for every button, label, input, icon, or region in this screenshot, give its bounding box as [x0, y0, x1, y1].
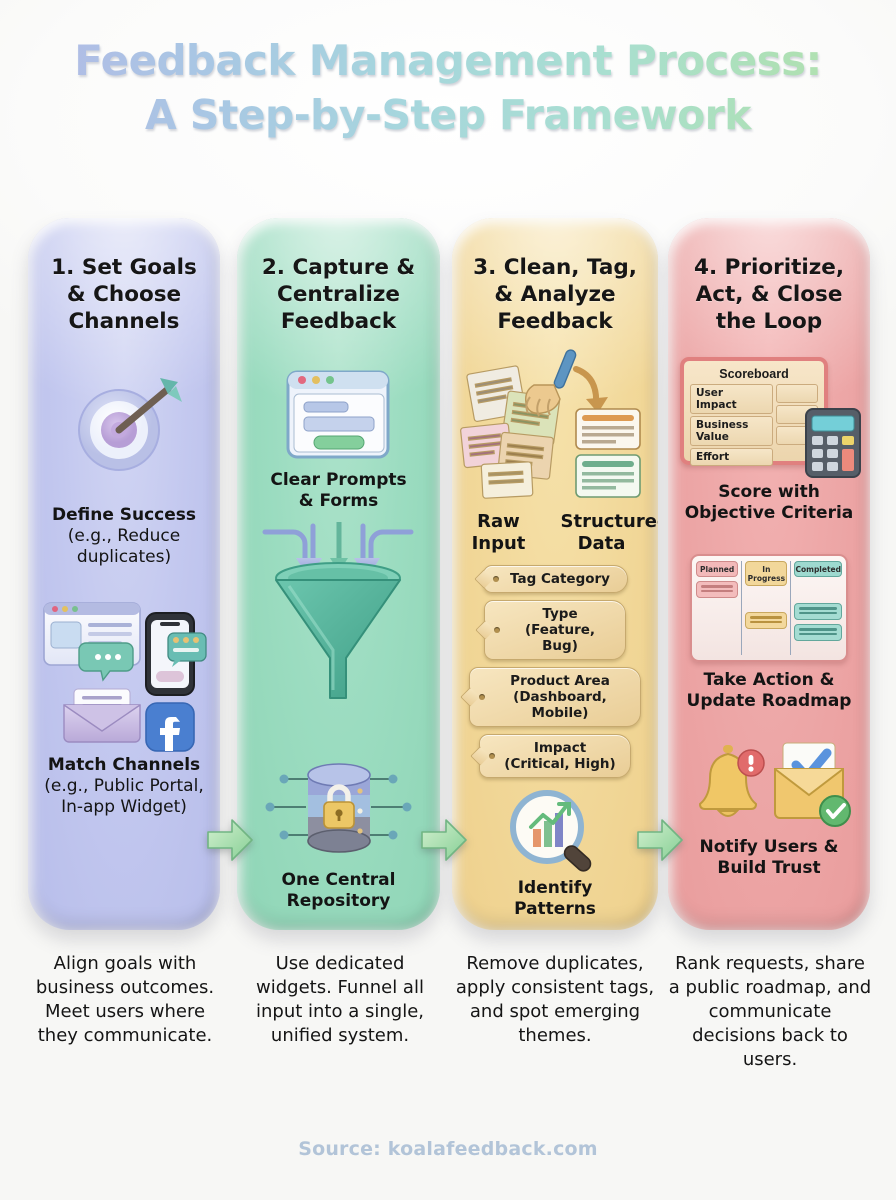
caption-main: Identify — [518, 878, 593, 898]
tag-name: Impact — [534, 740, 586, 756]
arrow-connector-1-to-2 — [206, 818, 254, 862]
kanban-card[interactable] — [696, 581, 738, 598]
bell-notification-icon — [700, 745, 764, 816]
notify-icons-group — [668, 734, 870, 839]
arrow-connector-2-to-3 — [420, 818, 468, 862]
structured-cards-icon — [576, 409, 640, 497]
step-2-heading: 2. Capture & Centralize Feedback — [237, 218, 440, 335]
caption-sub: (e.g., Reduce duplicates) — [68, 526, 180, 567]
caption-sub: Update Roadmap — [687, 691, 852, 711]
calculator-icon — [804, 407, 862, 479]
tag-examples: (Critical, High) — [504, 756, 615, 772]
envelope-check-icon — [775, 743, 850, 826]
scoreboard-title: Scoreboard — [690, 366, 818, 384]
caption-main: Clear Prompts — [270, 470, 406, 490]
channel-icons-group — [28, 590, 220, 755]
title-line-2: A Step-by-Step Framework — [0, 88, 896, 142]
scoreboard-group: Scoreboard User Impact Business Value Ef… — [668, 353, 870, 478]
facebook-icon — [146, 703, 194, 751]
source-attribution: Source: koalafeedback.com — [0, 1138, 896, 1160]
scoreboard-row: Business Value — [690, 416, 773, 446]
tag-name: Product Area — [510, 673, 610, 689]
kanban-column-header: Planned — [696, 561, 738, 577]
step-panel-3[interactable]: 3. Clean, Tag, & Analyze Feedback — [452, 218, 658, 930]
footer-captions: Align goals with business outcomes. Meet… — [0, 952, 896, 1112]
arrow-connector-3-to-4 — [636, 818, 684, 862]
caption-main: Match Channels — [48, 755, 200, 775]
form-window-icon — [237, 363, 440, 468]
caption-main: Define Success — [52, 505, 196, 525]
caption-main: Notify Users & — [700, 837, 839, 857]
step-3-heading: 3. Clean, Tag, & Analyze Feedback — [452, 218, 658, 335]
tag-name: Type — [542, 606, 577, 622]
step-panel-1[interactable]: 1. Set Goals & Choose Channels Define Su… — [28, 218, 220, 930]
caption-sub: Objective Criteria — [685, 503, 854, 523]
step-panel-2[interactable]: 2. Capture & Centralize Feedback Clear P… — [237, 218, 440, 930]
kanban-column-header: Completed — [794, 561, 842, 577]
step-panel-4[interactable]: 4. Prioritize, Act, & Close the Loop Sco… — [668, 218, 870, 930]
step-1-caption-2: Match Channels (e.g., Public Portal, In-… — [28, 755, 220, 818]
tag-examples: (Feature, Bug) — [505, 622, 615, 654]
step-3-footer: Remove duplicates, apply consistent tags… — [452, 952, 658, 1048]
magnifier-chart-icon — [452, 785, 658, 880]
tag-pill[interactable]: Type (Feature, Bug) — [484, 600, 626, 660]
step-1-footer: Align goals with business outcomes. Meet… — [30, 952, 220, 1048]
step-1-caption-1: Define Success (e.g., Reduce duplicates) — [28, 505, 220, 568]
caption-main: Score with — [718, 482, 820, 502]
caption-main: Take Action & — [704, 670, 835, 690]
browser-chat-icon — [44, 603, 140, 680]
kanban-column-header: In Progress — [745, 561, 787, 586]
database-lock-icon — [237, 744, 440, 874]
step-4-caption-1: Score with Objective Criteria — [668, 482, 870, 524]
process-steps-container: 1. Set Goals & Choose Channels Define Su… — [0, 218, 896, 933]
kanban-card[interactable] — [794, 624, 842, 641]
kanban-card[interactable] — [745, 612, 787, 629]
step-2-caption-2: One Central Repository — [237, 870, 440, 912]
step-4-caption-3: Notify Users & Build Trust — [668, 837, 870, 879]
scoreboard-row: User Impact — [690, 384, 773, 414]
scoreboard-row: Effort — [690, 448, 773, 466]
step-2-caption-1: Clear Prompts & Forms — [237, 470, 440, 512]
broom-icon — [526, 349, 608, 416]
tag-pill[interactable]: Tag Category — [483, 565, 628, 593]
caption-sub: Build Trust — [717, 858, 820, 878]
tag-examples: (Dashboard, Mobile) — [490, 689, 630, 721]
step-4-caption-2: Take Action & Update Roadmap — [668, 670, 870, 712]
kanban-card[interactable] — [794, 603, 842, 620]
caption-sub: (e.g., Public Portal, In-app Widget) — [44, 776, 203, 817]
page-title: Feedback Management Process: A Step-by-S… — [0, 34, 896, 142]
caption-sub: & Forms — [299, 491, 379, 511]
target-arrow-icon — [28, 353, 220, 503]
step-4-footer: Rank requests, share a public roadmap, a… — [668, 952, 872, 1072]
tag-pill[interactable]: Product Area (Dashboard, Mobile) — [469, 667, 641, 727]
step-2-footer: Use dedicated widgets. Funnel all input … — [240, 952, 440, 1048]
step-4-heading: 4. Prioritize, Act, & Close the Loop — [668, 218, 870, 335]
envelope-icon — [64, 689, 140, 742]
funnel-icon — [237, 522, 440, 722]
clean-tag-illustration — [452, 347, 658, 507]
kanban-board-icon[interactable]: Planned In Progress Completed — [668, 548, 870, 668]
phone-chat-icon — [146, 613, 206, 695]
tag-list: Tag Category Type (Feature, Bug) Product… — [452, 559, 658, 778]
label-structured-data: Structured Data — [553, 511, 651, 555]
caption-sub: Patterns — [514, 899, 596, 919]
tag-name: Tag Category — [510, 571, 610, 587]
title-line-1: Feedback Management Process: — [0, 34, 896, 88]
step-3-caption-2: Identify Patterns — [452, 878, 658, 920]
tag-pill[interactable]: Impact (Critical, High) — [479, 734, 631, 778]
step-1-heading: 1. Set Goals & Choose Channels — [28, 218, 220, 335]
label-raw-input: Raw Input — [460, 511, 538, 555]
caption-main: One Central — [282, 870, 396, 890]
caption-sub: Repository — [287, 891, 391, 911]
